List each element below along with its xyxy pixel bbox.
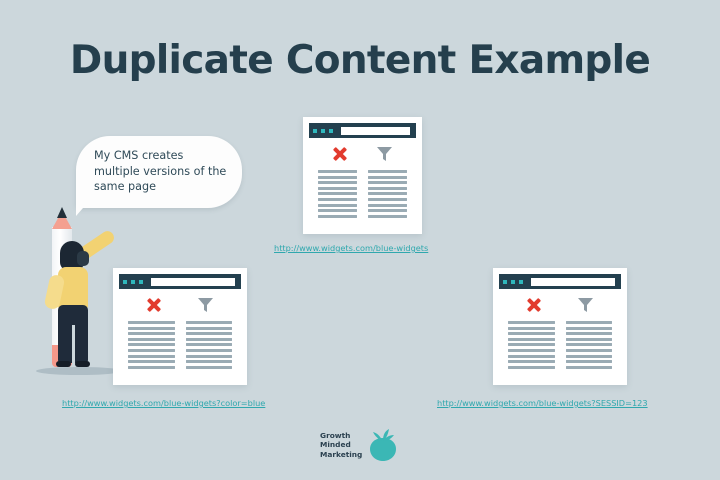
text-line <box>368 198 407 201</box>
pencil-tip-shape <box>57 207 67 218</box>
text-line <box>566 355 613 358</box>
text-line <box>566 321 613 324</box>
text-line <box>186 327 233 330</box>
person-right-shoe <box>75 361 90 367</box>
text-line <box>508 327 555 330</box>
browser-content <box>309 138 416 228</box>
window-dot-icon <box>321 129 325 133</box>
brand-line-2: Minded <box>320 440 362 449</box>
text-line <box>186 349 233 352</box>
text-line <box>128 355 175 358</box>
text-line <box>318 181 357 184</box>
brand-logo-text: Growth Minded Marketing <box>320 431 362 459</box>
text-line <box>566 343 613 346</box>
address-bar[interactable] <box>341 127 410 135</box>
text-line <box>368 209 407 212</box>
text-line <box>566 360 613 363</box>
address-bar[interactable] <box>151 278 235 286</box>
content-column <box>566 321 613 369</box>
text-line <box>508 355 555 358</box>
text-line <box>368 176 407 179</box>
text-line <box>318 187 357 190</box>
browser-titlebar <box>499 274 621 289</box>
browser-content <box>499 289 621 379</box>
person-left-shoe <box>56 361 71 367</box>
text-line <box>566 338 613 341</box>
browser-titlebar <box>309 123 416 138</box>
speech-bubble-text: My CMS creates multiple versions of the … <box>94 148 230 195</box>
content-columns <box>128 321 232 369</box>
window-dot-icon <box>519 280 523 284</box>
url-link-top[interactable]: http://www.widgets.com/blue-widgets <box>274 243 428 253</box>
text-line <box>566 366 613 369</box>
content-icon-row <box>128 297 232 314</box>
brand-line-1: Growth <box>320 431 362 440</box>
person-leg-gap <box>72 325 75 363</box>
person-face <box>77 251 89 266</box>
text-line <box>186 338 233 341</box>
content-column <box>186 321 233 369</box>
address-bar[interactable] <box>531 278 615 286</box>
text-line <box>566 327 613 330</box>
browser-window-left[interactable] <box>113 268 247 385</box>
text-line <box>128 321 175 324</box>
text-line <box>318 176 357 179</box>
text-line <box>318 215 357 218</box>
text-line <box>368 187 407 190</box>
browser-window-top[interactable] <box>303 117 422 234</box>
window-dot-icon <box>123 280 127 284</box>
content-column <box>318 170 357 218</box>
text-line <box>128 366 175 369</box>
text-line <box>508 366 555 369</box>
beet-icon <box>367 428 399 462</box>
text-line <box>566 332 613 335</box>
red-x-icon <box>526 297 542 313</box>
text-line <box>128 338 175 341</box>
text-line <box>508 321 555 324</box>
red-x-icon <box>332 146 348 162</box>
text-line <box>566 349 613 352</box>
text-line <box>368 170 407 173</box>
url-link-left[interactable]: http://www.widgets.com/blue-widgets?colo… <box>62 398 265 408</box>
window-dot-icon <box>139 280 143 284</box>
funnel-icon <box>376 146 393 162</box>
window-dot-icon <box>313 129 317 133</box>
text-line <box>368 192 407 195</box>
funnel-icon <box>197 297 214 313</box>
text-line <box>186 332 233 335</box>
content-column <box>508 321 555 369</box>
text-line <box>368 181 407 184</box>
window-dot-icon <box>503 280 507 284</box>
red-x-icon <box>146 297 162 313</box>
text-line <box>318 209 357 212</box>
text-line <box>318 192 357 195</box>
browser-content <box>119 289 241 379</box>
url-link-right[interactable]: http://www.widgets.com/blue-widgets?SESS… <box>437 398 648 408</box>
text-line <box>128 332 175 335</box>
text-line <box>508 343 555 346</box>
content-column <box>128 321 175 369</box>
text-line <box>318 170 357 173</box>
text-line <box>186 366 233 369</box>
text-line <box>508 349 555 352</box>
text-line <box>318 198 357 201</box>
browser-window-right[interactable] <box>493 268 627 385</box>
text-line <box>508 360 555 363</box>
text-line <box>186 360 233 363</box>
funnel-icon <box>577 297 594 313</box>
brand-logo: Growth Minded Marketing <box>320 428 399 462</box>
browser-titlebar <box>119 274 241 289</box>
text-line <box>186 355 233 358</box>
text-line <box>128 349 175 352</box>
text-line <box>508 332 555 335</box>
text-line <box>186 321 233 324</box>
ground-shadow <box>36 367 122 375</box>
window-dot-icon <box>511 280 515 284</box>
window-dot-icon <box>131 280 135 284</box>
infographic-canvas: Duplicate Content Example My CMS creates… <box>0 0 720 480</box>
text-line <box>368 204 407 207</box>
content-column <box>368 170 407 218</box>
content-columns <box>508 321 612 369</box>
content-columns <box>318 170 407 218</box>
content-icon-row <box>508 297 612 314</box>
content-icon-row <box>318 146 407 163</box>
text-line <box>508 338 555 341</box>
page-title: Duplicate Content Example <box>0 38 720 83</box>
window-dot-icon <box>329 129 333 133</box>
text-line <box>368 215 407 218</box>
text-line <box>318 204 357 207</box>
text-line <box>128 343 175 346</box>
text-line <box>128 360 175 363</box>
text-line <box>128 327 175 330</box>
text-line <box>186 343 233 346</box>
brand-line-3: Marketing <box>320 450 362 459</box>
